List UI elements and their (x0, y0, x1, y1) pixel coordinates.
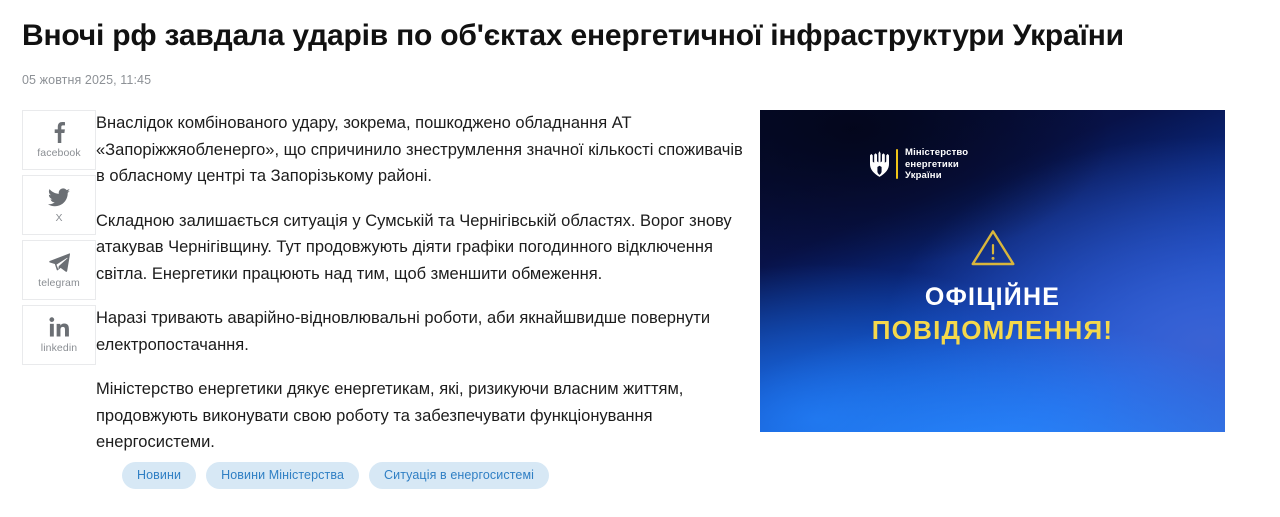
share-button-telegram[interactable]: telegram (22, 240, 96, 300)
twitter-x-icon (48, 186, 70, 208)
linkedin-icon (49, 316, 69, 338)
tag-list: Новини Новини Міністерства Ситуація в ен… (0, 462, 549, 489)
share-label: telegram (38, 277, 80, 289)
article-paragraph: Міністерство енергетики дякує енергетика… (96, 376, 746, 456)
logo-divider (896, 149, 898, 179)
tag-sytuatsiia-v-enerhosystemi[interactable]: Ситуація в енергосистемі (369, 462, 549, 489)
share-button-x[interactable]: X (22, 175, 96, 235)
share-sidebar: facebook X telegram (0, 110, 96, 365)
hero-message-block: ОФІЦІЙНЕ ПОВІДОМЛЕННЯ! (760, 228, 1225, 346)
share-button-linkedin[interactable]: linkedin (22, 305, 96, 365)
ministry-logo-line1: Міністерство (905, 147, 968, 159)
article-body: Внаслідок комбінованого удару, зокрема, … (96, 110, 756, 456)
ministry-logo-line3: України (905, 170, 968, 182)
tag-novyny[interactable]: Новини (122, 462, 196, 489)
ministry-logo-text: Міністерство енергетики України (905, 147, 968, 182)
tag-novyny-ministerstva[interactable]: Новини Міністерства (206, 462, 359, 489)
telegram-icon (49, 251, 70, 273)
share-label: facebook (37, 147, 80, 159)
article-content-row: facebook X telegram (0, 88, 1280, 456)
share-button-facebook[interactable]: facebook (22, 110, 96, 170)
trident-icon (870, 151, 889, 177)
hero-headline-message: ПОВІДОМЛЕННЯ! (872, 314, 1113, 346)
page-title: Вночі рф завдала ударів по об'єктах енер… (0, 0, 1280, 55)
share-label: X (55, 212, 62, 224)
article-hero-image: Міністерство енергетики України ОФІЦІЙНЕ… (760, 110, 1225, 432)
ministry-logo: Міністерство енергетики України (870, 147, 968, 182)
hero-headline-official: ОФІЦІЙНЕ (925, 282, 1060, 312)
ministry-logo-line2: енергетики (905, 159, 968, 171)
warning-triangle-icon (970, 228, 1016, 268)
article-page: Вночі рф завдала ударів по об'єктах енер… (0, 0, 1280, 517)
article-timestamp: 05 жовтня 2025, 11:45 (0, 55, 1280, 88)
article-paragraph: Складною залишається ситуація у Сумській… (96, 208, 746, 288)
article-hero-wrapper: Міністерство енергетики України ОФІЦІЙНЕ… (756, 110, 1280, 432)
facebook-icon (53, 121, 66, 143)
article-paragraph: Наразі тривають аварійно-відновлювальні … (96, 305, 746, 358)
share-label: linkedin (41, 342, 77, 354)
article-paragraph: Внаслідок комбінованого удару, зокрема, … (96, 110, 746, 190)
